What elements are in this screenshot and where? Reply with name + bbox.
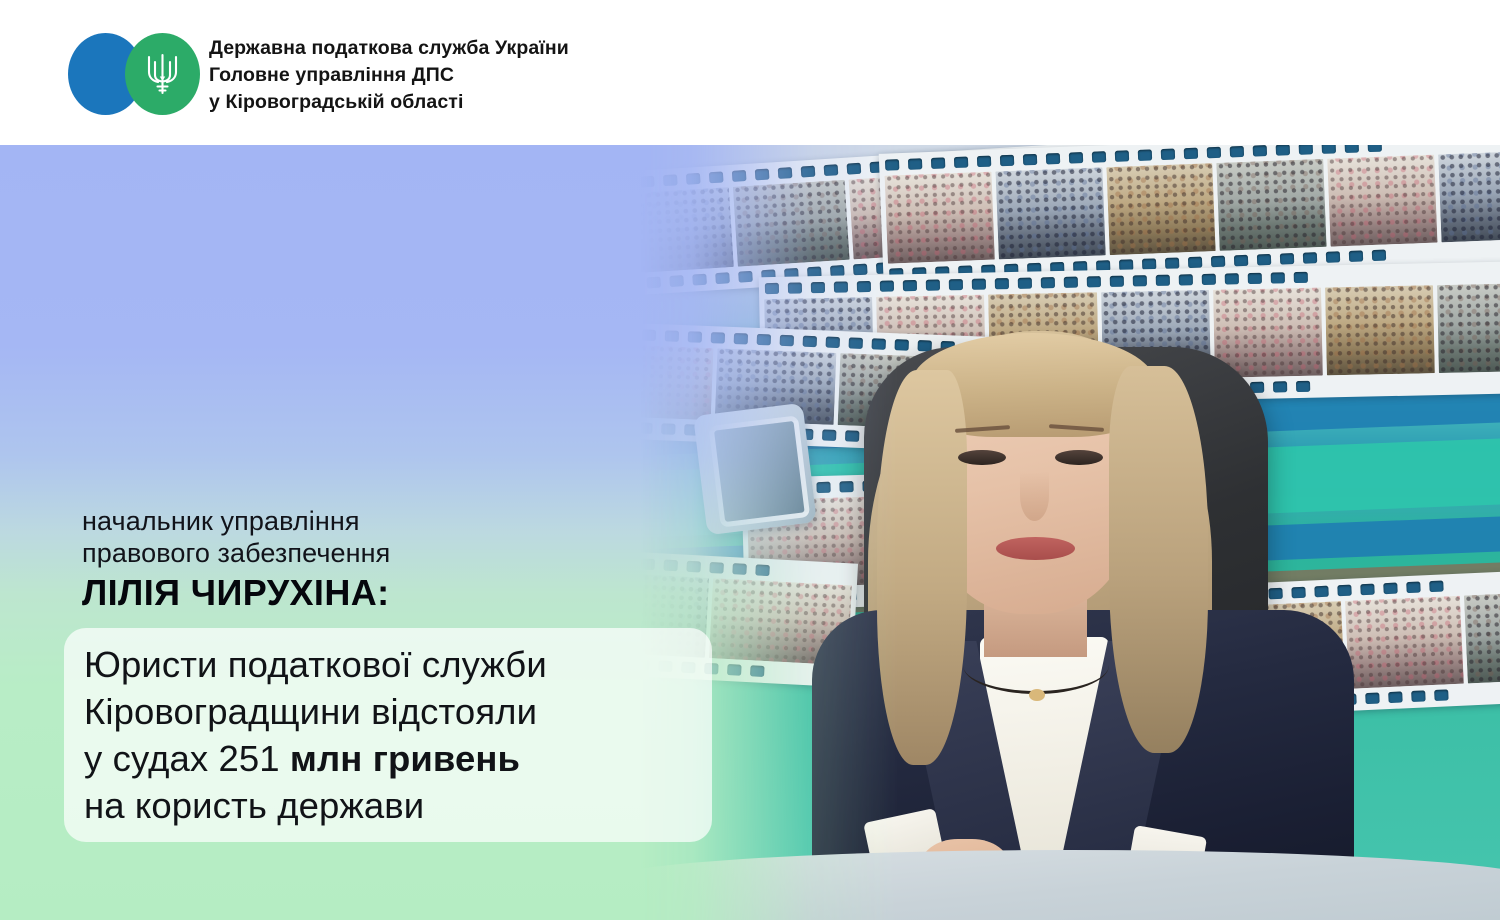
quote-line-3: у судах 251 млн гривень — [84, 735, 547, 782]
role-caption: начальник управління правового забезпече… — [82, 505, 390, 569]
quote-amount-highlight: млн гривень — [290, 738, 520, 779]
header-bar: Державна податкова служба України Головн… — [0, 0, 1500, 145]
brand-block: Державна податкова служба України Головн… — [68, 33, 569, 116]
portrait-photo — [640, 145, 1500, 920]
person-figure — [640, 145, 1500, 920]
hair-right-strand — [1109, 366, 1208, 754]
agency-name-line-3: у Кіровоградській області — [209, 89, 569, 116]
necklace — [963, 637, 1109, 694]
person-name: ЛІЛІЯ ЧИРУХІНА: — [82, 572, 390, 614]
poster-root: Державна податкова служба України Головн… — [0, 0, 1500, 920]
role-caption-line-2: правового забезпечення — [82, 537, 390, 569]
quote-card: Юристи податкової служби Кіровоградщини … — [64, 628, 712, 842]
quote-line-2: Кіровоградщини відстояли — [84, 688, 547, 735]
quote-text: Юристи податкової служби Кіровоградщини … — [84, 641, 547, 829]
agency-name-line-1: Державна податкова служба України — [209, 34, 569, 62]
hair-left-strand — [877, 370, 967, 765]
main-canvas: начальник управління правового забезпече… — [0, 145, 1500, 920]
agency-name-line-2: Головне управління ДПС — [209, 62, 569, 89]
ukraine-trident-icon — [144, 51, 181, 97]
quote-line-4: на користь держави — [84, 782, 547, 829]
portrait-photo-inner — [640, 145, 1500, 920]
eye-right — [1055, 450, 1103, 466]
eye-left — [958, 450, 1006, 466]
quote-line-3-plain: у судах 251 — [84, 738, 290, 779]
agency-logo — [68, 33, 199, 115]
quote-line-1: Юристи податкової служби — [84, 641, 547, 688]
brand-text: Державна податкова служба України Головн… — [209, 33, 569, 116]
role-caption-line-1: начальник управління — [82, 505, 390, 537]
nose — [1020, 471, 1049, 521]
desk-surface — [640, 850, 1500, 920]
